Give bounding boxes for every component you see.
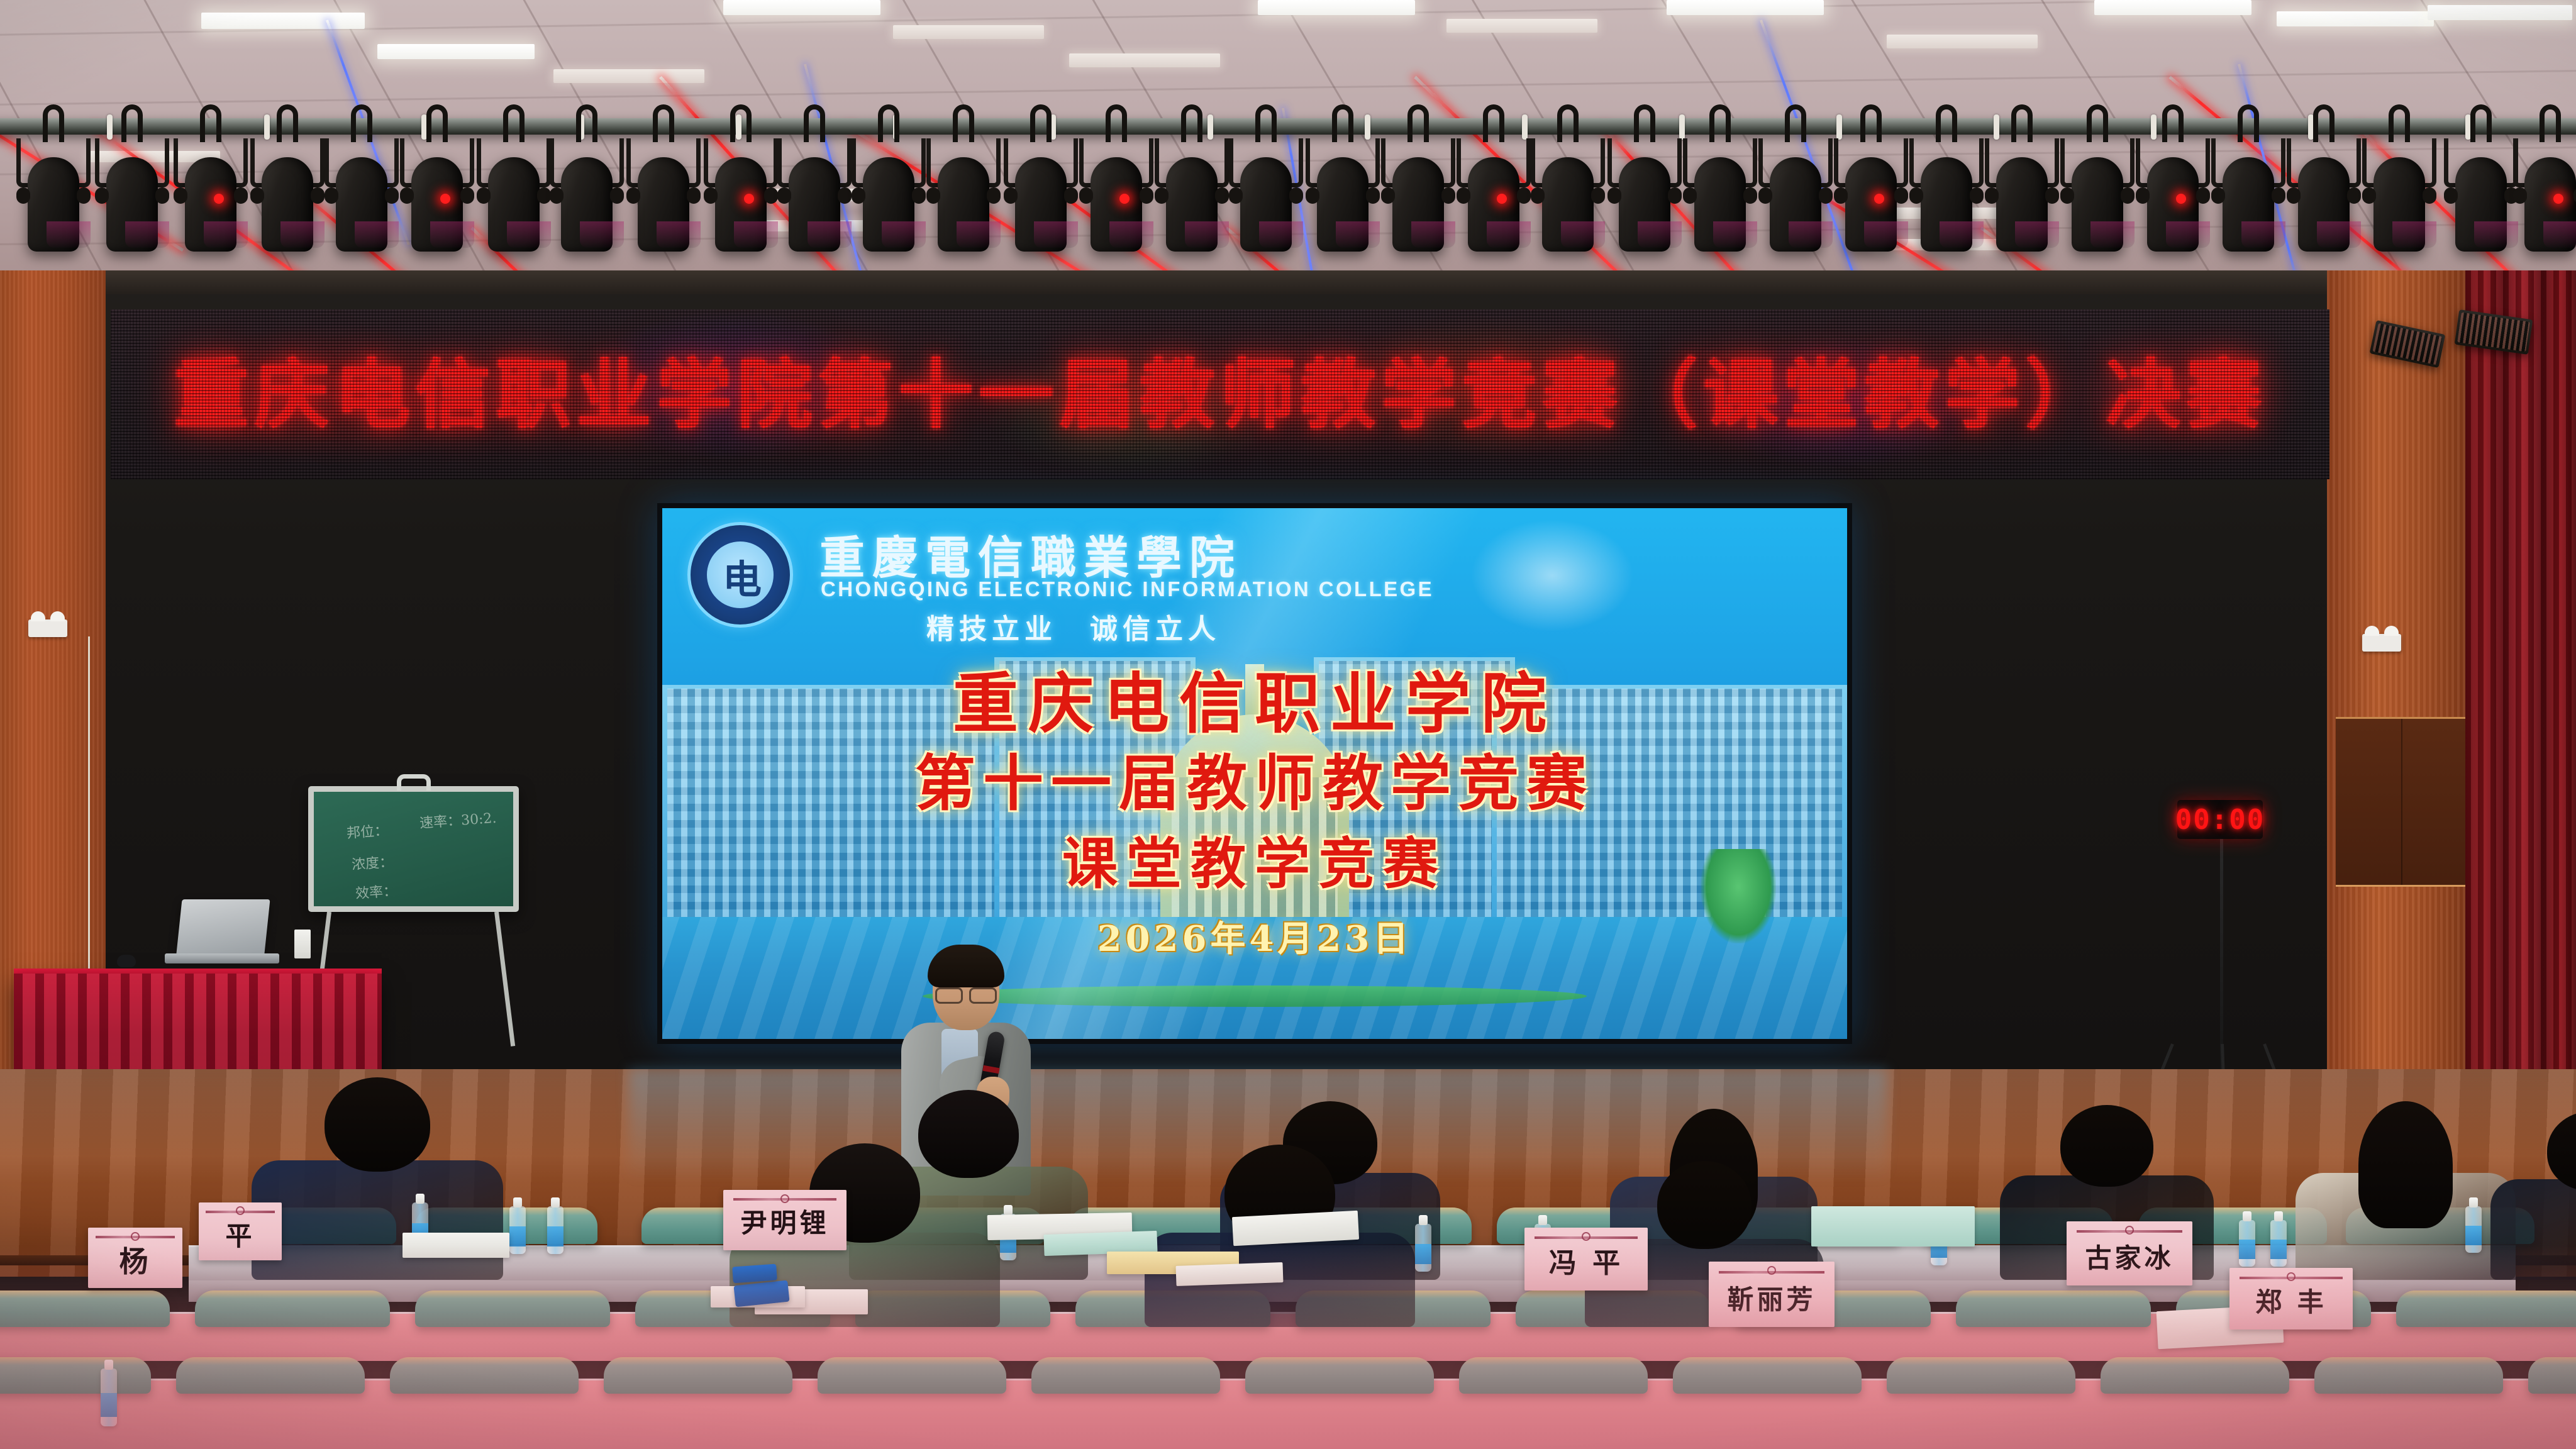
par-can-light xyxy=(1225,135,1307,260)
par-can-body xyxy=(1468,157,1519,252)
water-bottle xyxy=(547,1206,563,1254)
water-bottle xyxy=(1415,1224,1431,1272)
par-can-hook xyxy=(1483,104,1504,142)
auditorium-seat xyxy=(2528,1357,2576,1394)
par-can-light xyxy=(1453,135,1535,260)
par-can-light xyxy=(848,135,930,260)
par-can-hook xyxy=(2389,104,2410,142)
par-can-knob xyxy=(987,187,1001,204)
document-stack xyxy=(402,1233,509,1258)
audience-member-head xyxy=(325,1077,430,1172)
par-can-light xyxy=(13,135,94,260)
ceiling-light-tube xyxy=(553,69,704,83)
placard-name: 古家冰 xyxy=(2085,1237,2173,1285)
par-can-light xyxy=(774,135,855,260)
par-can-hook xyxy=(730,104,752,142)
auditorium-seat xyxy=(195,1291,390,1327)
par-can-knob xyxy=(926,187,940,204)
par-can-hook xyxy=(2313,104,2334,142)
par-can-knob xyxy=(460,187,474,204)
par-can-hook xyxy=(2011,104,2033,142)
par-can-light xyxy=(1755,135,1836,260)
presenter-glasses-icon xyxy=(935,987,997,1000)
par-can-body xyxy=(1845,157,1897,252)
par-can-knob xyxy=(234,187,248,204)
par-can-light xyxy=(1302,135,1384,260)
chalk-line-2: 浓度： xyxy=(351,851,394,874)
par-can-body xyxy=(938,157,989,252)
par-can-hook xyxy=(2238,104,2259,142)
par-can-body xyxy=(1996,157,2048,252)
ceiling-light-tube xyxy=(723,0,880,15)
par-can-knob xyxy=(250,187,264,204)
par-can-hook xyxy=(1030,104,1052,142)
par-can-light xyxy=(91,135,173,260)
par-can-body xyxy=(1619,157,1670,252)
projection-screen: 电 重慶電信職業學院 CHONGQING ELECTRONIC INFORMAT… xyxy=(662,508,1847,1039)
par-can-body xyxy=(1921,157,1972,252)
slide-title-line3: 课堂教学竞赛 xyxy=(662,819,1847,899)
ceiling-light-tube xyxy=(893,25,1044,39)
par-can-body xyxy=(1317,157,1368,252)
par-can-body xyxy=(1166,157,1218,252)
audience-member xyxy=(252,1160,503,1280)
par-can-knob xyxy=(2362,187,2376,204)
par-can-body xyxy=(1091,157,1142,252)
water-bottle xyxy=(509,1206,526,1254)
name-placard: 平 xyxy=(199,1202,282,1260)
name-placard: 靳丽芳 xyxy=(1709,1262,1835,1327)
par-can-body xyxy=(2223,157,2274,252)
timer-value: 00:00 xyxy=(2175,804,2265,836)
par-can-hook xyxy=(2087,104,2108,142)
college-logo-icon: 电 xyxy=(687,522,793,628)
ceiling xyxy=(0,0,2576,296)
par-can-light xyxy=(1377,135,1459,260)
slide-header: 电 重慶電信職業學院 CHONGQING ELECTRONIC INFORMAT… xyxy=(662,517,1847,636)
slide-date: 2026年4月23日 xyxy=(662,911,1847,962)
projection-screen-frame: 电 重慶電信職業學院 CHONGQING ELECTRONIC INFORMAT… xyxy=(657,503,1852,1044)
par-can-indicator-led xyxy=(214,194,224,204)
par-can-knob xyxy=(2423,187,2436,204)
slide-institution-en: CHONGQING ELECTRONIC INFORMATION COLLEGE xyxy=(821,577,1434,601)
slide-title-line2: 第十一届教师教学竞赛 xyxy=(662,735,1847,822)
par-can-hook xyxy=(653,104,674,142)
par-can-knob xyxy=(704,187,718,204)
lighting-truss-bar xyxy=(0,118,2576,135)
chalk-line-0: 速率：30:2. xyxy=(419,807,497,832)
auditorium-seat xyxy=(1245,1357,1434,1394)
ceiling-light-tube xyxy=(1887,35,2038,48)
par-can-light xyxy=(1679,135,1761,260)
par-can-knob xyxy=(2444,187,2458,204)
audience-member-head xyxy=(1657,1161,1752,1249)
par-can-knob xyxy=(1909,187,1923,204)
ceiling-light-tube xyxy=(1258,0,1415,15)
par-can-light xyxy=(2509,135,2576,260)
par-can-body xyxy=(2373,157,2425,252)
led-banner-text: 重庆电信职业学院第十一届教师教学竞赛（课堂教学）决赛 xyxy=(111,333,2329,443)
par-can-knob xyxy=(1289,187,1303,204)
par-can-body xyxy=(336,157,387,252)
par-can-knob xyxy=(1834,187,1848,204)
par-can-light xyxy=(1604,135,1685,260)
par-can-knob xyxy=(610,187,624,204)
power-cord-left xyxy=(88,636,90,989)
par-can-light xyxy=(473,135,555,260)
water-bottle xyxy=(101,1368,117,1426)
par-can-knob xyxy=(1758,187,1772,204)
par-can-knob xyxy=(95,187,109,204)
emergency-light-right xyxy=(2362,634,2401,652)
par-can-light xyxy=(321,135,402,260)
placard-name: 郑 丰 xyxy=(2255,1281,2327,1330)
par-can-body xyxy=(863,157,914,252)
par-can-knob xyxy=(16,187,30,204)
emergency-light-left xyxy=(28,619,67,637)
par-can-knob xyxy=(174,187,187,204)
auditorium-seat xyxy=(176,1357,365,1394)
par-can-hook xyxy=(953,104,974,142)
par-can-hook xyxy=(1181,104,1202,142)
placard-name: 尹明锂 xyxy=(740,1202,829,1250)
par-can-hook xyxy=(43,104,64,142)
par-can-knob xyxy=(477,187,491,204)
right-stage-curtain xyxy=(2465,270,2576,1107)
ceiling-light-tube xyxy=(2094,0,2251,15)
presenter-hair xyxy=(928,945,1004,987)
par-can-hook xyxy=(351,104,372,142)
par-can-knob xyxy=(2211,187,2225,204)
par-can-light xyxy=(2132,135,2214,260)
par-can-hook xyxy=(1557,104,1579,142)
par-can-light xyxy=(1906,135,1987,260)
par-can-hook xyxy=(277,104,298,142)
par-can-hook xyxy=(2470,104,2492,142)
par-can-body xyxy=(2147,157,2199,252)
par-can-knob xyxy=(626,187,640,204)
par-can-body xyxy=(2524,157,2576,252)
par-can-hook xyxy=(2540,104,2561,142)
par-can-light xyxy=(396,135,478,260)
par-can-knob xyxy=(1531,187,1545,204)
par-can-knob xyxy=(1004,187,1018,204)
audience-member-torso xyxy=(252,1160,503,1280)
portable-blackboard: 邦位： 速率：30:2. 浓度： 效率： xyxy=(308,786,519,912)
par-can-knob xyxy=(1155,187,1169,204)
auditorium-seat xyxy=(1459,1357,1648,1394)
ceiling-light-tube xyxy=(2428,5,2572,20)
par-can-knob xyxy=(777,187,791,204)
presenter-laptop[interactable] xyxy=(176,899,270,953)
par-can-light xyxy=(1527,135,1609,260)
par-can-hook xyxy=(503,104,525,142)
audience-member xyxy=(2296,1173,2516,1280)
par-can-knob xyxy=(852,187,865,204)
ceiling-light-tube xyxy=(1667,0,1824,15)
par-can-knob xyxy=(1683,187,1697,204)
par-can-light xyxy=(923,135,1004,260)
par-can-body xyxy=(1542,157,1594,252)
logo-mark-text: 电 xyxy=(723,548,758,604)
par-can-knob xyxy=(687,187,701,204)
right-wall-dark-panel xyxy=(2336,717,2467,887)
auditorium-seat xyxy=(1956,1291,2151,1327)
auditorium-seat xyxy=(2396,1291,2576,1327)
par-can-knob xyxy=(1079,187,1093,204)
par-can-knob xyxy=(325,187,338,204)
par-can-light xyxy=(2358,135,2440,260)
audience-member-head xyxy=(2060,1105,2153,1187)
par-can-light xyxy=(1151,135,1233,260)
auditorium-seat xyxy=(818,1357,1006,1394)
par-can-body xyxy=(28,157,79,252)
auditorium-scene: 重庆电信职业学院第十一届教师教学竞赛（课堂教学）决赛 电 xyxy=(0,0,2576,1449)
par-can-body xyxy=(1240,157,1292,252)
smartphone[interactable] xyxy=(732,1264,777,1284)
par-can-body xyxy=(561,157,613,252)
par-can-hook xyxy=(1106,104,1127,142)
ceiling-light-tube xyxy=(2277,11,2434,26)
par-can-hook xyxy=(878,104,899,142)
par-can-hook xyxy=(2162,104,2184,142)
par-can-light xyxy=(1981,135,2063,260)
par-can-knob xyxy=(2136,187,2150,204)
par-can-hook xyxy=(576,104,597,142)
name-placard: 古家冰 xyxy=(2067,1221,2192,1285)
par-can-indicator-led xyxy=(440,194,450,204)
par-can-body xyxy=(185,157,236,252)
led-banner: 重庆电信职业学院第十一届教师教学竞赛（课堂教学）决赛 xyxy=(111,309,2329,479)
chalk-line-3: 效率： xyxy=(355,880,397,903)
par-can-light xyxy=(2057,135,2138,260)
par-can-indicator-led xyxy=(2553,194,2563,204)
auditorium-seat xyxy=(1673,1357,1862,1394)
par-can-light xyxy=(546,135,628,260)
right-wood-wall xyxy=(2327,270,2472,1094)
auditorium-seat xyxy=(604,1357,792,1394)
name-placard: 冯 平 xyxy=(1524,1228,1648,1291)
par-can-hook xyxy=(1255,104,1277,142)
par-can-body xyxy=(2298,157,2350,252)
par-can-knob xyxy=(2060,187,2074,204)
par-can-body xyxy=(106,157,158,252)
par-can-body xyxy=(1694,157,1746,252)
par-can-body xyxy=(488,157,540,252)
slide-motto: 精技立业 诚信立人 xyxy=(926,606,1221,647)
par-can-hook xyxy=(804,104,825,142)
par-can-knob xyxy=(2513,187,2527,204)
placard-name: 杨 xyxy=(119,1239,152,1288)
par-can-body xyxy=(2072,157,2123,252)
par-can-knob xyxy=(1381,187,1395,204)
par-can-light xyxy=(247,135,328,260)
par-can-knob xyxy=(1229,187,1243,204)
par-can-body xyxy=(789,157,840,252)
par-can-knob xyxy=(1457,187,1470,204)
document-stack xyxy=(1175,1262,1283,1286)
computer-mouse[interactable] xyxy=(117,955,136,967)
audience-member xyxy=(2490,1179,2576,1280)
blackboard-handle xyxy=(397,774,431,791)
slide-title-line1: 重庆电信职业学院 xyxy=(662,650,1847,745)
par-can-knob xyxy=(155,187,169,204)
auditorium-seat xyxy=(390,1357,579,1394)
placard-name: 靳丽芳 xyxy=(1727,1279,1816,1327)
countdown-timer-display: 00:00 xyxy=(2177,800,2263,839)
par-can-light xyxy=(1830,135,1912,260)
par-can-knob xyxy=(550,187,563,204)
par-can-light xyxy=(1000,135,1082,260)
par-can-knob xyxy=(1306,187,1319,204)
par-can-hook xyxy=(1785,104,1806,142)
par-can-light xyxy=(2207,135,2289,260)
par-can-hook xyxy=(1936,104,1957,142)
par-can-body xyxy=(411,157,463,252)
name-placard: 杨 xyxy=(88,1228,182,1288)
document-stack xyxy=(1811,1206,1975,1246)
par-can-knob xyxy=(1591,187,1605,204)
drink-carton xyxy=(294,930,311,958)
par-can-hook xyxy=(1634,104,1655,142)
par-can-light xyxy=(2283,135,2365,260)
par-can-indicator-led xyxy=(2176,194,2186,204)
par-can-hook xyxy=(1407,104,1429,142)
auditorium-seat xyxy=(2101,1357,2289,1394)
par-can-indicator-led xyxy=(1119,194,1130,204)
stage-backdrop-top-trim xyxy=(106,270,2332,294)
placard-name: 冯 平 xyxy=(1549,1240,1623,1291)
water-bottle xyxy=(2270,1220,2287,1267)
par-can-light xyxy=(170,135,252,260)
par-can-hook xyxy=(1709,104,1731,142)
auditorium-seat xyxy=(1887,1357,2075,1394)
par-can-light xyxy=(623,135,704,260)
par-can-hook xyxy=(121,104,143,142)
par-can-knob xyxy=(400,187,414,204)
auditorium-seat xyxy=(415,1291,610,1327)
audience-member-head xyxy=(918,1090,1019,1178)
par-can-hook xyxy=(200,104,221,142)
par-can-knob xyxy=(2287,187,2301,204)
ceiling-light-tube xyxy=(1446,19,1597,33)
par-can-indicator-led xyxy=(1874,194,1884,204)
audience-member-head xyxy=(2358,1101,2453,1228)
par-can-indicator-led xyxy=(1497,194,1507,204)
par-can-hook xyxy=(426,104,448,142)
name-placard: 尹明锂 xyxy=(723,1190,847,1250)
audience-member-torso xyxy=(2490,1179,2576,1280)
water-bottle xyxy=(2465,1206,2482,1253)
par-can-body xyxy=(262,157,313,252)
par-can-body xyxy=(1015,157,1067,252)
left-wood-wall xyxy=(0,270,108,1088)
auditorium-seat xyxy=(0,1291,170,1327)
par-can-indicator-led xyxy=(744,194,754,204)
par-can-light xyxy=(1075,135,1157,260)
par-can-knob xyxy=(77,187,91,204)
par-can-body xyxy=(2455,157,2507,252)
par-can-body xyxy=(638,157,689,252)
ceiling-light-tube xyxy=(377,44,535,59)
ceiling-light-tube xyxy=(201,13,365,29)
placard-name: 平 xyxy=(225,1215,255,1260)
auditorium-seat xyxy=(2314,1357,2503,1394)
par-can-knob xyxy=(1985,187,1999,204)
par-can-light xyxy=(700,135,782,260)
par-can-hook xyxy=(1332,104,1353,142)
par-can-hook xyxy=(1860,104,1882,142)
ceiling-light-tube xyxy=(1069,53,1220,67)
par-can-body xyxy=(1770,157,1821,252)
auditorium-seat xyxy=(1031,1357,1220,1394)
par-can-body xyxy=(1392,157,1444,252)
par-can-knob xyxy=(1607,187,1621,204)
water-bottle xyxy=(2239,1220,2255,1267)
auditorium-seat xyxy=(0,1357,151,1394)
par-can-body xyxy=(715,157,767,252)
chalk-line-1: 邦位： xyxy=(346,819,389,843)
name-placard: 郑 丰 xyxy=(2229,1268,2353,1330)
laptop-base xyxy=(165,953,279,963)
